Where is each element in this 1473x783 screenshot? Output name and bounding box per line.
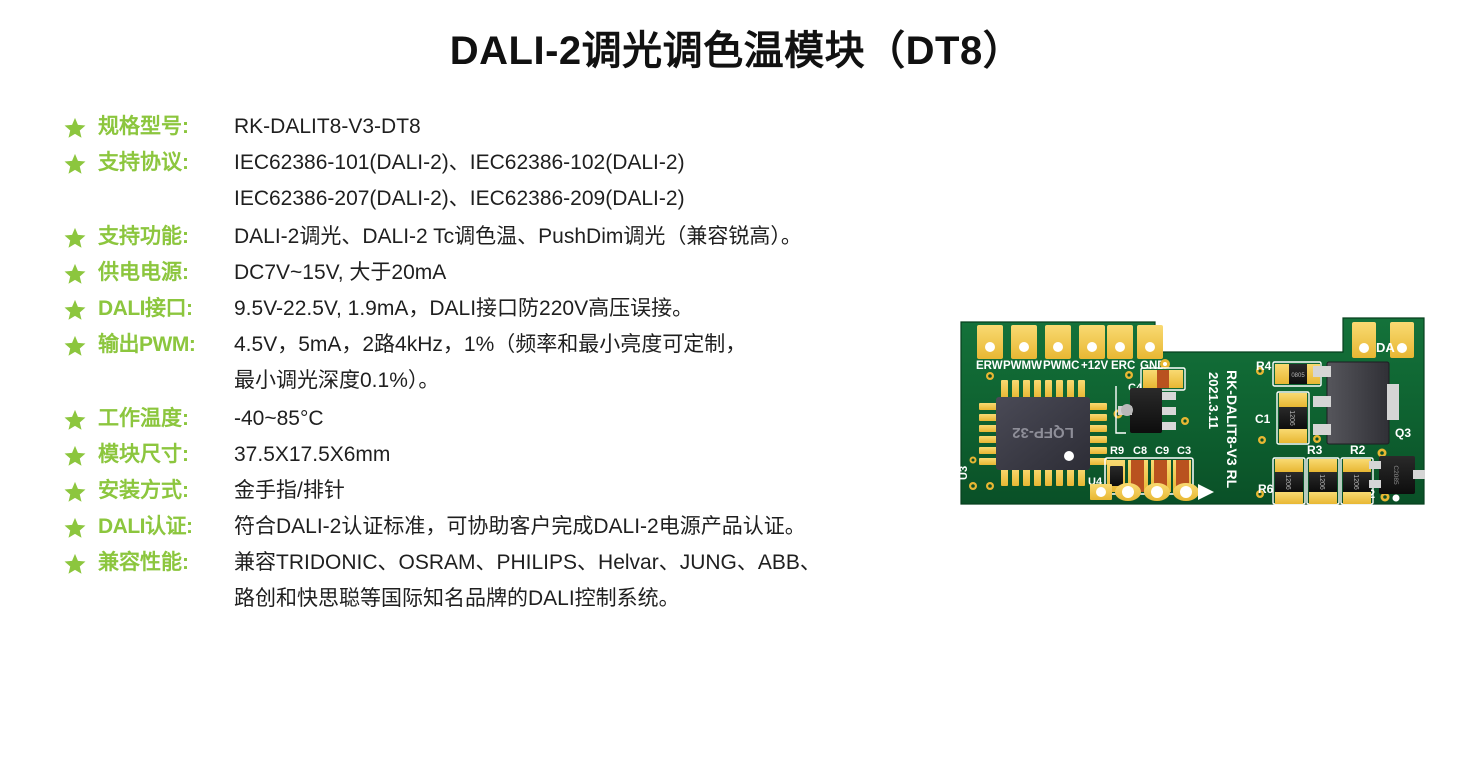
star-icon — [62, 112, 88, 142]
spec-value-group: 37.5X17.5X6mm — [230, 440, 962, 470]
spec-value-line: 最小调光深度0.1%）。 — [234, 366, 962, 396]
spec-label: 安装方式: — [98, 476, 230, 506]
designator-q3: Q3 — [1395, 426, 1411, 440]
star-icon — [62, 222, 88, 252]
star-icon — [62, 404, 88, 434]
star-icon — [62, 548, 88, 578]
svg-text:1206: 1206 — [1284, 474, 1291, 490]
designator-c1: C1 — [1255, 412, 1271, 426]
spec-row-operating-temperature: 工作温度: -40~85°C — [62, 404, 962, 434]
spec-value-line: DC7V~15V, 大于20mA — [234, 258, 962, 288]
silkscreen-date: 2021.3.11 — [1206, 372, 1221, 429]
spec-row-compatibility: 兼容性能: 兼容TRIDONIC、OSRAM、PHILIPS、Helvar、JU… — [62, 548, 962, 614]
spec-value-line: 37.5X17.5X6mm — [234, 440, 962, 470]
spec-value-group: 金手指/排针 — [230, 476, 962, 506]
spec-row-dali-certification: DALI认证: 符合DALI-2认证标准，可协助客户完成DALI-2电源产品认证… — [62, 512, 962, 542]
resistor-code-r4: 0805 — [1291, 373, 1305, 379]
designator-c8: C8 — [1133, 445, 1147, 457]
pad-label-pwmc: PWMC — [1043, 360, 1079, 372]
pad-label-pwmw: PWMW — [1003, 360, 1042, 372]
spec-value-line: 兼容TRIDONIC、OSRAM、PHILIPS、Helvar、JUNG、ABB… — [234, 548, 962, 578]
spec-row-protocols: 支持协议: IEC62386-101(DALI-2)、IEC62386-102(… — [62, 148, 962, 214]
designator-c9: C9 — [1155, 445, 1169, 457]
designator-c3: C3 — [1177, 445, 1191, 457]
spec-row-dali-interface: DALI接口: 9.5V-22.5V, 1.9mA，DALI接口防220V高压误… — [62, 294, 962, 324]
pad-label-da: DA — [1376, 340, 1395, 355]
designator-r9: R9 — [1110, 445, 1124, 457]
spec-value-group: DC7V~15V, 大于20mA — [230, 258, 962, 288]
star-icon — [62, 258, 88, 288]
spec-value-group: IEC62386-101(DALI-2)、IEC62386-102(DALI-2… — [230, 148, 962, 214]
pad-label-erc: ERC — [1111, 360, 1135, 372]
designator-r6: R6 — [1258, 482, 1274, 496]
component-c4 — [1141, 368, 1185, 390]
star-icon — [62, 148, 88, 178]
spec-value-group: 兼容TRIDONIC、OSRAM、PHILIPS、Helvar、JUNG、ABB… — [230, 548, 962, 614]
svg-text:1206: 1206 — [1352, 474, 1359, 490]
spec-label: 供电电源: — [98, 258, 230, 288]
page-title: DALI-2调光调色温模块（DT8） — [0, 0, 1473, 76]
spec-value-group: 4.5V，5mA，2路4kHz，1%（频率和最小亮度可定制， 最小调光深度0.1… — [230, 330, 962, 396]
spec-value-line: 4.5V，5mA，2路4kHz，1%（频率和最小亮度可定制， — [234, 330, 962, 360]
svg-text:1206: 1206 — [1318, 474, 1325, 490]
spec-value-group: DALI-2调光、DALI-2 Tc调色温、PushDim调光（兼容锐高）。 — [230, 222, 962, 252]
spec-row-functions: 支持功能: DALI-2调光、DALI-2 Tc调色温、PushDim调光（兼容… — [62, 222, 962, 252]
spec-label: DALI接口: — [98, 294, 230, 324]
spec-value-line: 符合DALI-2认证标准，可协助客户完成DALI-2电源产品认证。 — [234, 512, 962, 542]
spec-value-group: 符合DALI-2认证标准，可协助客户完成DALI-2电源产品认证。 — [230, 512, 962, 542]
spec-label: 兼容性能: — [98, 548, 230, 578]
spec-label: 支持功能: — [98, 222, 230, 252]
designator-r2: R2 — [1350, 443, 1366, 457]
spec-label: DALI认证: — [98, 512, 230, 542]
spec-row-pwm-output: 输出PWM: 4.5V，5mA，2路4kHz，1%（频率和最小亮度可定制， 最小… — [62, 330, 962, 396]
spec-label: 输出PWM: — [98, 330, 230, 360]
spec-value-group: 9.5V-22.5V, 1.9mA，DALI接口防220V高压误接。 — [230, 294, 962, 324]
designator-u3: U3 — [958, 466, 970, 480]
resistor-code-c1: 1206 — [1288, 410, 1295, 426]
star-icon — [62, 294, 88, 324]
spec-list: 规格型号: RK-DALIT8-V3-DT8 支持协议: IEC62386-10… — [62, 112, 962, 622]
star-icon — [62, 440, 88, 470]
spec-row-power-supply: 供电电源: DC7V~15V, 大于20mA — [62, 258, 962, 288]
spec-value-line: 路创和快思聪等国际知名品牌的DALI控制系统。 — [234, 584, 962, 614]
spec-row-model: 规格型号: RK-DALIT8-V3-DT8 — [62, 112, 962, 142]
pad-label-erw: ERW — [976, 360, 1003, 372]
svg-text:C2085: C2085 — [1392, 465, 1399, 485]
ic-marking-lqfp32: LQFP-32 — [1012, 424, 1074, 441]
spec-value-line: IEC62386-101(DALI-2)、IEC62386-102(DALI-2… — [234, 148, 962, 178]
designator-r4: R4 — [1256, 359, 1272, 373]
spec-label: 工作温度: — [98, 404, 230, 434]
pad-label-12v: +12V — [1081, 360, 1109, 372]
spec-row-module-size: 模块尺寸: 37.5X17.5X6mm — [62, 440, 962, 470]
spec-value-line: 金手指/排针 — [234, 476, 962, 506]
star-icon — [62, 512, 88, 542]
pcb-svg: ERW PWMW PWMC +12V ERC GND DA — [955, 308, 1430, 538]
pcb-module-image: ERW PWMW PWMC +12V ERC GND DA — [955, 308, 1430, 538]
star-icon — [62, 476, 88, 506]
designator-r3: R3 — [1307, 443, 1323, 457]
spec-value-line: DALI-2调光、DALI-2 Tc调色温、PushDim调光（兼容锐高）。 — [234, 222, 962, 252]
silkscreen-part-number: RK-DALIT8-V3 RL — [1224, 370, 1240, 489]
spec-value-line: RK-DALIT8-V3-DT8 — [234, 112, 962, 142]
spec-label: 模块尺寸: — [98, 440, 230, 470]
component-bank-lower-right: 1206 1206 1206 — [1273, 458, 1373, 504]
star-icon — [62, 330, 88, 360]
spec-label: 支持协议: — [98, 148, 230, 178]
spec-label: 规格型号: — [98, 112, 230, 142]
spec-value-group: RK-DALIT8-V3-DT8 — [230, 112, 962, 142]
spec-row-mounting: 安装方式: 金手指/排针 — [62, 476, 962, 506]
spec-value-line: 9.5V-22.5V, 1.9mA，DALI接口防220V高压误接。 — [234, 294, 962, 324]
spec-value-line: IEC62386-207(DALI-2)、IEC62386-209(DALI-2… — [234, 184, 962, 214]
spec-value-line: -40~85°C — [234, 404, 962, 434]
spec-value-group: -40~85°C — [230, 404, 962, 434]
